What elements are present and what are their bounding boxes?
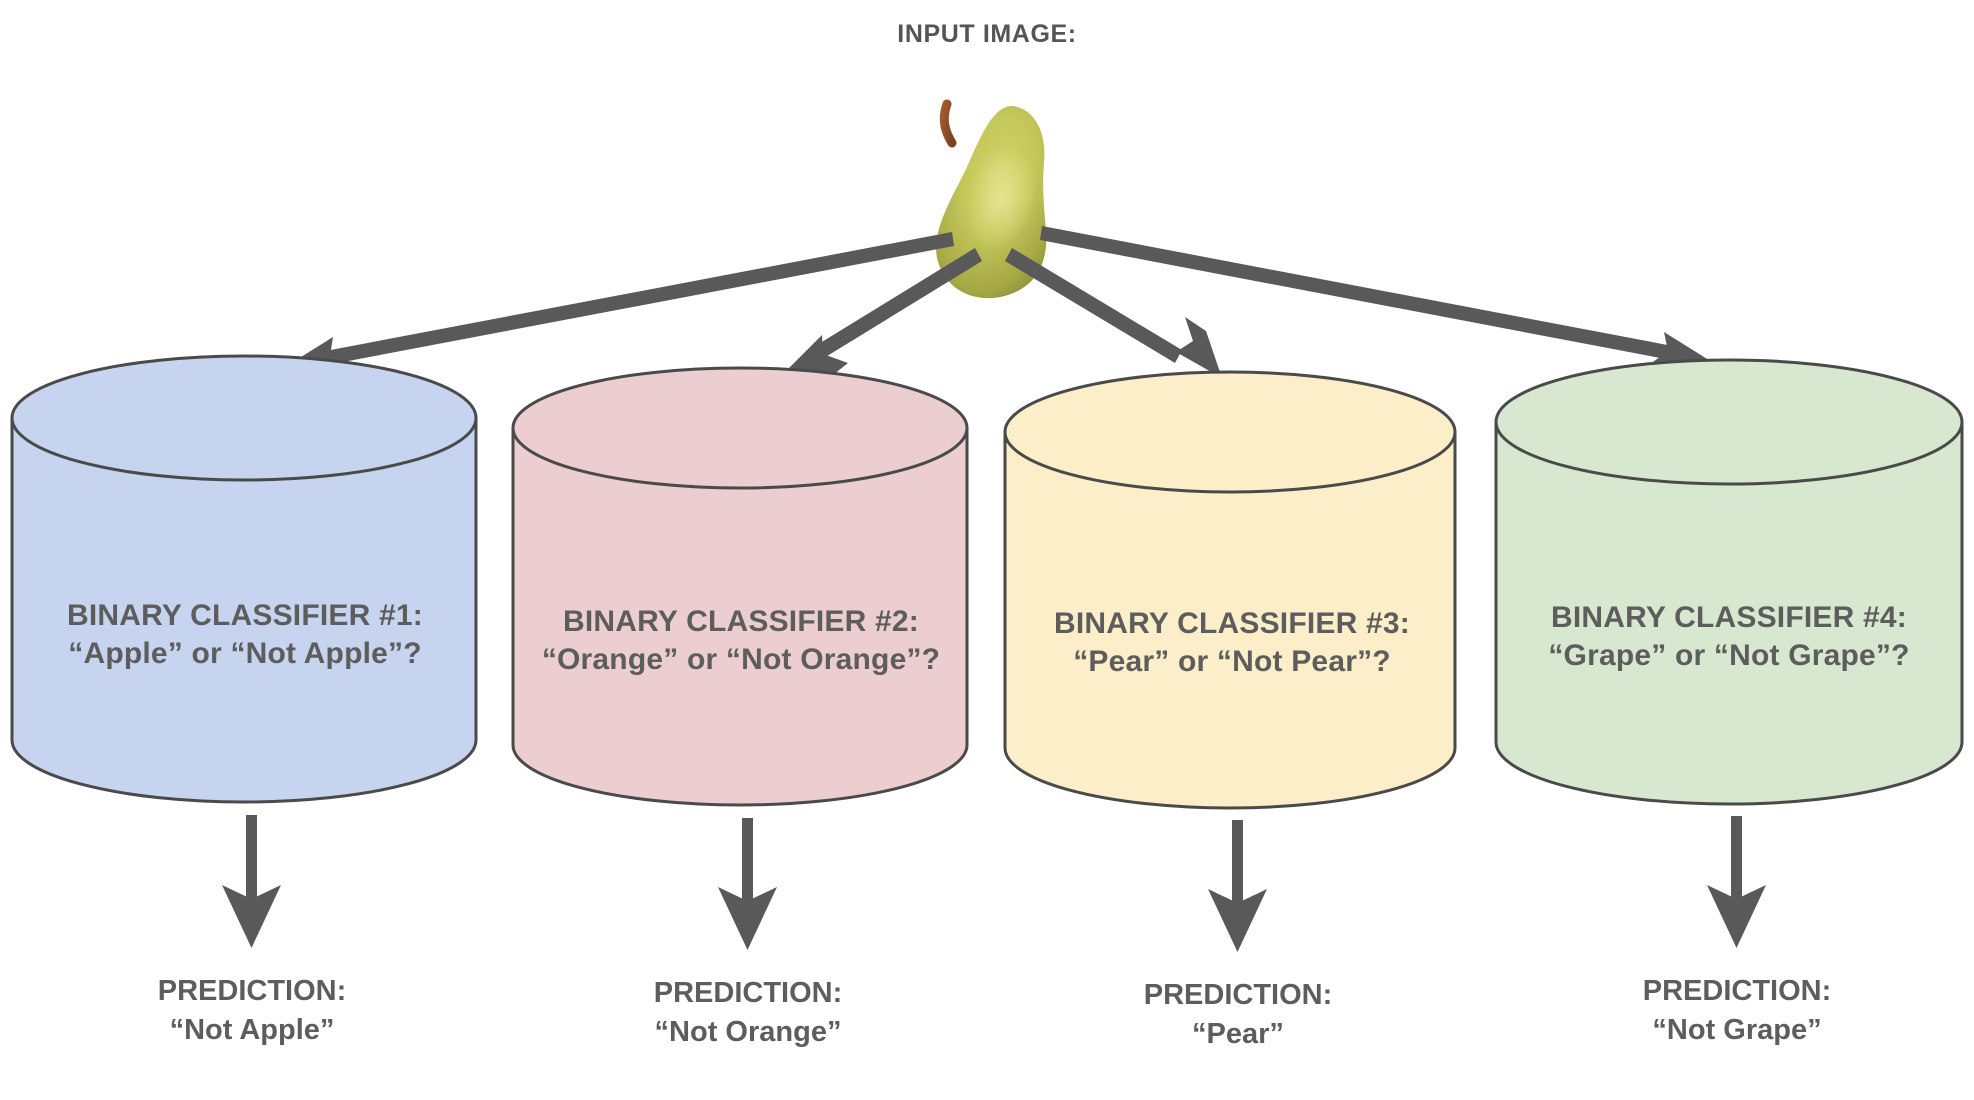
classifier-3-cylinder-top	[1005, 372, 1455, 492]
prediction-3-value: “Pear”	[998, 1015, 1478, 1054]
classifier-1-cylinder-top	[12, 356, 476, 480]
arrow-to-classifier-4	[1040, 226, 1712, 376]
prediction-1-value: “Not Apple”	[12, 1011, 492, 1050]
prediction-1: PREDICTION: “Not Apple”	[12, 972, 492, 1049]
prediction-4: PREDICTION: “Not Grape”	[1497, 972, 1974, 1049]
prediction-1-label: PREDICTION:	[12, 972, 492, 1011]
diagram-scene: INPUT IMAGE: BINARY CLASSIFIER #1: “Appl…	[0, 0, 1974, 1100]
classifier-2-cylinder[interactable]	[513, 368, 967, 805]
classifier-3-cylinder[interactable]	[1005, 372, 1455, 808]
classifier-4-cylinder-top	[1496, 360, 1962, 484]
page-title: INPUT IMAGE:	[0, 20, 1974, 49]
classifier-1-cylinder[interactable]	[12, 356, 476, 802]
prediction-arrows	[222, 815, 1766, 952]
arrow-to-classifier-1	[285, 232, 954, 381]
diagram-graphics	[0, 0, 1974, 1100]
arrow-classifier-4-to-prediction	[1707, 816, 1766, 948]
prediction-3-label: PREDICTION:	[998, 976, 1478, 1015]
classifier-2-cylinder-top	[513, 368, 967, 488]
prediction-4-value: “Not Grape”	[1497, 1011, 1974, 1050]
classifier-4-cylinder[interactable]	[1496, 360, 1962, 804]
pear-stem-icon	[944, 104, 952, 143]
prediction-2-value: “Not Orange”	[508, 1013, 988, 1052]
prediction-3: PREDICTION: “Pear”	[998, 976, 1478, 1053]
arrow-classifier-2-to-prediction	[718, 818, 777, 950]
prediction-2: PREDICTION: “Not Orange”	[508, 974, 988, 1051]
arrow-classifier-3-to-prediction	[1208, 820, 1267, 952]
diagram-canvas: INPUT IMAGE: BINARY CLASSIFIER #1: “Appl…	[0, 0, 1974, 1100]
arrow-classifier-1-to-prediction	[222, 815, 281, 948]
prediction-4-label: PREDICTION:	[1497, 972, 1974, 1011]
prediction-2-label: PREDICTION:	[508, 974, 988, 1013]
